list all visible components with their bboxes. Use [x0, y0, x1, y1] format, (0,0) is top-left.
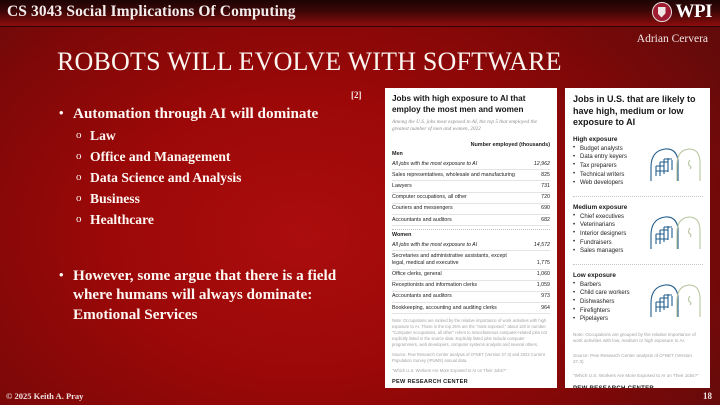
table-row: Secretaries and administrative assistant…	[392, 251, 550, 269]
row-value: 1,060	[520, 271, 550, 278]
page-number: 18	[703, 391, 712, 401]
pew-table-group-men: Men All jobs with the most exposure to A…	[392, 151, 550, 226]
pew-brand: PEW RESEARCH CENTER	[392, 379, 550, 385]
section-divider	[573, 196, 703, 197]
row-label: All jobs with the most exposure to AI	[392, 161, 520, 168]
bullet-primary-2-emphasis: Emotional Services	[73, 306, 197, 323]
slide-canvas: CS 3043 Social Implications Of Computing…	[0, 0, 720, 405]
row-label: Secretaries and administrative assistant…	[392, 253, 520, 267]
pew-table-subtitle: Among the U.S. jobs most exposed to AI, …	[392, 119, 550, 133]
table-row: Bookkeeping, accounting and auditing cle…	[392, 303, 550, 314]
bullet-sub-item: Data Science and Analysis	[90, 167, 358, 188]
exposure-list: Budget analysts Data entry keyers Tax pr…	[573, 145, 703, 188]
slide-header-bar: CS 3043 Social Implications Of Computing…	[0, 0, 720, 27]
list-item: Data entry keyers	[573, 153, 703, 162]
table-row: All jobs with the most exposure to AI 12…	[392, 159, 550, 170]
table-row: Office clerks, general 1,060	[392, 270, 550, 281]
row-value: 973	[520, 293, 550, 300]
group-label: Men	[392, 151, 550, 157]
row-value: 12,962	[520, 161, 550, 168]
table-row: Sales representatives, wholesale and man…	[392, 170, 550, 181]
row-label: Lawyers	[392, 183, 520, 190]
row-label: Sales representatives, wholesale and man…	[392, 172, 520, 179]
page-title: ROBOTS WILL EVOLVE WITH SOFTWARE	[57, 47, 562, 77]
bullet-sub-item: Office and Management	[90, 146, 358, 167]
pew-table-figure: Jobs with high exposure to AI that emplo…	[385, 88, 557, 388]
citation-marker: [2]	[351, 90, 362, 100]
table-row: Accountants and auditors 682	[392, 215, 550, 226]
row-value: 964	[520, 305, 550, 312]
bullet-primary-2-lead: However, some argue that there is a fiel…	[73, 267, 336, 304]
pew-table-note: Note: Occupations are ranked by the rela…	[392, 318, 550, 348]
bullet-primary-2: However, some argue that there is a fiel…	[58, 266, 358, 325]
copyright-notice: © 2025 Keith A. Pray	[6, 391, 83, 401]
table-row: Accountants and auditors 973	[392, 292, 550, 303]
row-label: Computer occupations, all other	[392, 194, 520, 201]
group-label: Women	[392, 232, 550, 238]
bullet-primary-1: Automation through AI will dominate	[58, 104, 358, 124]
bullet-sublist: Law Office and Management Data Science a…	[58, 125, 358, 230]
list-item: Dishwashers	[573, 298, 703, 307]
row-label: Couriers and messengers	[392, 205, 520, 212]
pew-list-study: "Which U.S. Workers Are More Exposed to …	[573, 373, 703, 379]
table-row: Receptionists and information clerks 1,0…	[392, 281, 550, 292]
row-label: Office clerks, general	[392, 271, 520, 278]
pew-brand: PEW RESEARCH CENTER	[573, 386, 703, 388]
pew-list-note: Note: Occupations are grouped by the rel…	[573, 332, 703, 345]
wpi-wordmark: WPI	[676, 1, 713, 23]
list-item: Pipelayers	[573, 315, 703, 324]
row-value: 682	[520, 217, 550, 224]
list-item: Firefighters	[573, 307, 703, 316]
row-label: Accountants and auditors	[392, 293, 520, 300]
exposure-list: Chief executives Veterinarians Interior …	[573, 213, 703, 256]
list-item: Tax preparers	[573, 162, 703, 171]
list-item: Chief executives	[573, 213, 703, 222]
row-label: Accountants and auditors	[392, 217, 520, 224]
pew-table-title: Jobs with high exposure to AI that emplo…	[392, 94, 550, 115]
row-label: Bookkeeping, accounting and auditing cle…	[392, 305, 520, 312]
row-label: All jobs with the most exposure to AI	[392, 242, 520, 249]
list-item: Barbers	[573, 281, 703, 290]
exposure-section-low: Low exposure Barbers Child care workers …	[573, 272, 703, 324]
wpi-logo: WPI	[652, 1, 713, 23]
list-item: Fundraisers	[573, 239, 703, 248]
list-item: Budget analysts	[573, 145, 703, 154]
author-name: Adrian Cervera	[637, 33, 708, 45]
list-item: Veterinarians	[573, 221, 703, 230]
course-title: CS 3043 Social Implications Of Computing	[7, 3, 296, 21]
row-value: 14,572	[520, 242, 550, 249]
pew-table-column-header: Number employed (thousands)	[392, 142, 550, 149]
bullet-sub-item: Healthcare	[90, 209, 358, 230]
exposure-section-medium: Medium exposure Chief executives Veterin…	[573, 204, 703, 256]
row-value: 690	[520, 205, 550, 212]
list-item: Technical writers	[573, 171, 703, 180]
exposure-list: Barbers Child care workers Dishwashers F…	[573, 281, 703, 324]
row-value: 731	[520, 183, 550, 190]
exposure-section-high: High exposure Budget analysts Data entry…	[573, 136, 703, 188]
list-item: Interior designers	[573, 230, 703, 239]
bullet-sub-item: Business	[90, 188, 358, 209]
pew-table-study: "Which U.S. Workers Are More Exposed to …	[392, 368, 550, 374]
bullet-sub-item: Law	[90, 125, 358, 146]
table-row: Computer occupations, all other 720	[392, 193, 550, 204]
pew-table-source: Source: Pew Research Center analysis of …	[392, 352, 550, 364]
row-value: 1,059	[520, 282, 550, 289]
section-divider	[573, 264, 703, 265]
list-item: Child care workers	[573, 289, 703, 298]
pew-table-group-women: Women All jobs with the most exposure to…	[392, 232, 550, 314]
row-value: 825	[520, 172, 550, 179]
wpi-shield-seal-icon	[652, 2, 672, 22]
section-divider	[392, 229, 550, 230]
table-row: All jobs with the most exposure to AI 14…	[392, 240, 550, 251]
row-value: 1,775	[520, 260, 550, 267]
list-item: Web developers	[573, 179, 703, 188]
row-value: 720	[520, 194, 550, 201]
pew-list-figure: Jobs in U.S. that are likely to have hig…	[565, 88, 710, 388]
bullet-content: Automation through AI will dominate Law …	[58, 104, 358, 324]
list-item: Sales managers	[573, 247, 703, 256]
table-row: Couriers and messengers 690	[392, 204, 550, 215]
row-label: Receptionists and information clerks	[392, 282, 520, 289]
pew-list-title: Jobs in U.S. that are likely to have hig…	[573, 94, 703, 129]
pew-list-source: Source: Pew Research Center analysis of …	[573, 353, 703, 366]
table-row: Lawyers 731	[392, 181, 550, 192]
